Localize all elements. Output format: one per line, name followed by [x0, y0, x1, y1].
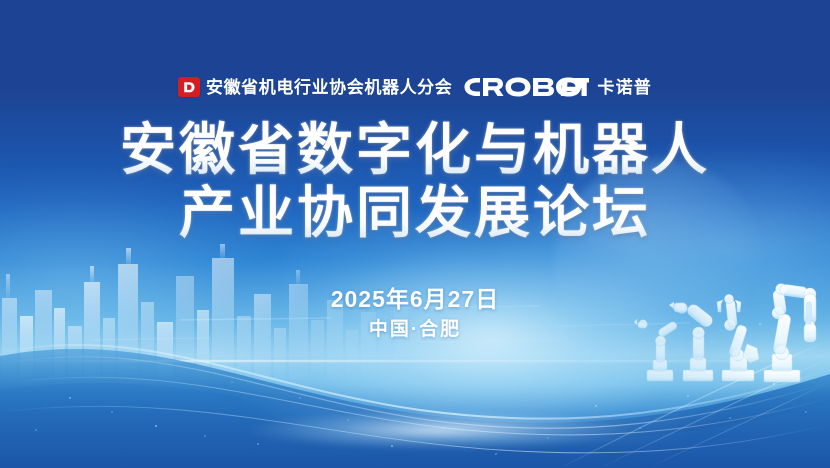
association-name: 安徽省机电行业协会机器人分会	[206, 79, 452, 96]
brand-block: 卡诺普	[463, 76, 652, 98]
event-date: 2025年6月27日	[0, 285, 830, 314]
banner-title: 安徽省数字化与机器人 产业协同发展论坛	[0, 118, 830, 245]
brand-chinese-name: 卡诺普	[597, 79, 652, 96]
association-block: 安徽省机电行业协会机器人分会	[178, 77, 452, 97]
banner-header: 安徽省机电行业协会机器人分会	[0, 72, 830, 102]
title-line-1: 安徽省数字化与机器人	[0, 118, 830, 181]
background-top-shade	[0, 0, 830, 120]
event-location: 中国·合肥	[0, 317, 830, 344]
crobotp-wordmark-icon	[463, 76, 589, 98]
event-banner: 安徽省机电行业协会机器人分会	[0, 0, 830, 468]
wave-shine-highlight	[249, 410, 631, 450]
assoc-d-mark-icon	[178, 77, 200, 97]
banner-meta: 2025年6月27日 中国·合肥	[0, 285, 830, 344]
title-line-2: 产业协同发展论坛	[0, 181, 830, 244]
